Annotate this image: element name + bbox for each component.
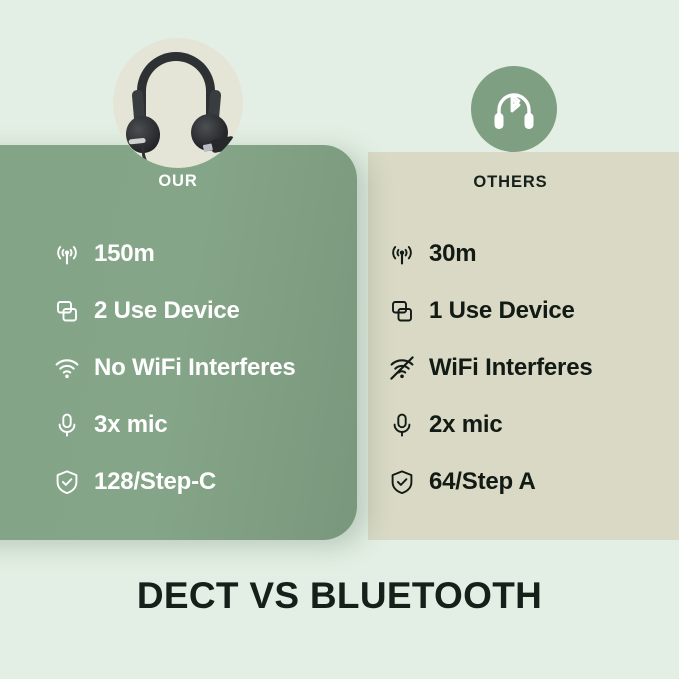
our-column-label: OUR — [0, 172, 356, 191]
feature-row: 150m — [52, 225, 296, 282]
feature-row: 2x mic — [387, 396, 593, 453]
feature-row: 30m — [387, 225, 593, 282]
feature-row: 128/Step-C — [52, 453, 296, 510]
feature-text: WiFi Interferes — [429, 354, 593, 382]
feature-text: 2 Use Device — [94, 297, 240, 325]
microphone-icon — [387, 410, 417, 440]
multi-device-icon — [52, 296, 82, 326]
page-title: DECT VS BLUETOOTH — [0, 575, 679, 617]
feature-row: WiFi Interferes — [387, 339, 593, 396]
feature-row: No WiFi Interferes — [52, 339, 296, 396]
wifi-off-icon — [387, 353, 417, 383]
feature-text: 3x mic — [94, 411, 168, 439]
microphone-icon — [52, 410, 82, 440]
feature-text: 1 Use Device — [429, 297, 575, 325]
feature-text: 2x mic — [429, 411, 503, 439]
wifi-icon — [52, 353, 82, 383]
feature-text: No WiFi Interferes — [94, 354, 296, 382]
comparison-infographic: OUR OTHERS 150m 2 Use Device — [0, 0, 679, 679]
bluetooth-headphones-icon — [488, 83, 540, 135]
feature-text: 30m — [429, 240, 476, 268]
shield-check-icon — [52, 467, 82, 497]
feature-row: 64/Step A — [387, 453, 593, 510]
signal-tower-icon — [52, 239, 82, 269]
feature-row: 3x mic — [52, 396, 296, 453]
our-badge — [113, 38, 243, 168]
shield-check-icon — [387, 467, 417, 497]
feature-text: 150m — [94, 240, 155, 268]
our-feature-list: 150m 2 Use Device No WiFi Interferes — [52, 225, 296, 510]
feature-row: 1 Use Device — [387, 282, 593, 339]
feature-text: 128/Step-C — [94, 468, 216, 496]
others-column-label: OTHERS — [368, 173, 653, 192]
feature-row: 2 Use Device — [52, 282, 296, 339]
multi-device-icon — [387, 296, 417, 326]
others-badge — [471, 66, 557, 152]
signal-tower-icon — [387, 239, 417, 269]
feature-text: 64/Step A — [429, 468, 536, 496]
others-feature-list: 30m 1 Use Device WiFi Int — [387, 225, 593, 510]
